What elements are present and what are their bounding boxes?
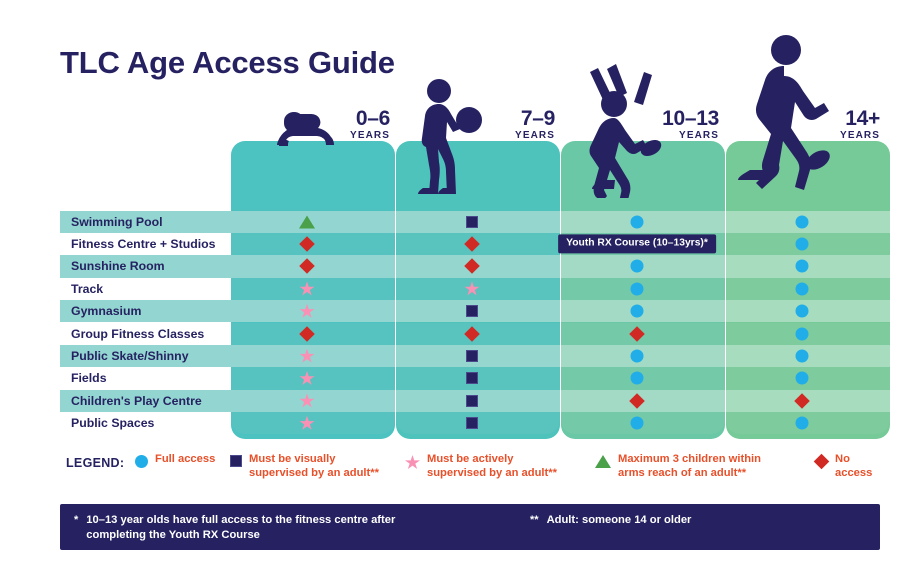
no-access-diamond-icon <box>629 326 645 342</box>
row-label: Public Spaces <box>71 416 154 430</box>
access-marker <box>300 349 315 364</box>
row-label: Public Skate/Shinny <box>71 349 189 363</box>
active-supervision-star-icon <box>300 349 315 364</box>
active-supervision-star-icon <box>405 455 420 470</box>
infographic-root: TLC Age Access Guide <box>0 0 900 579</box>
access-marker <box>299 215 315 228</box>
table-row: Fitness Centre + StudiosYouth RX Course … <box>60 233 880 255</box>
footnote-0: * 10–13 year olds have full access to th… <box>74 513 504 543</box>
access-marker <box>631 215 644 228</box>
access-cell <box>396 345 560 367</box>
youth-rx-course-badge: Youth RX Course (10–13yrs)* <box>558 234 716 253</box>
no-access-diamond-icon <box>814 454 830 470</box>
legend-marker <box>135 455 148 468</box>
footnote-marker-0: * <box>74 513 78 528</box>
visual-supervision-square-icon <box>466 395 478 407</box>
no-access-diamond-icon <box>299 236 315 252</box>
access-marker <box>631 350 644 363</box>
footnote-1: ** Adult: someone 14 or older <box>530 513 860 528</box>
visual-supervision-square-icon <box>466 372 478 384</box>
full-access-circle-icon <box>796 327 809 340</box>
visual-supervision-square-icon <box>466 305 478 317</box>
visual-supervision-square-icon <box>466 417 478 429</box>
full-access-circle-icon <box>135 455 148 468</box>
full-access-circle-icon <box>796 372 809 385</box>
active-supervision-star-icon <box>465 281 480 296</box>
access-marker <box>300 393 315 408</box>
footnote-text-0: 10–13 year olds have full access to the … <box>86 513 395 543</box>
access-marker <box>466 395 478 407</box>
table-row: Swimming Pool <box>60 211 880 233</box>
access-marker <box>632 395 643 406</box>
access-marker <box>796 327 809 340</box>
age-header-1: 7–9 YEARS <box>471 108 555 141</box>
access-cell <box>396 300 560 322</box>
access-marker <box>796 282 809 295</box>
table-row: Public Spaces <box>60 412 880 434</box>
legend-item: Must be actively supervised by an adult*… <box>405 452 557 481</box>
age-header-range-2: 10–13 <box>630 108 719 129</box>
access-cell <box>396 211 560 233</box>
table-row: Group Fitness Classes <box>60 323 880 345</box>
full-access-circle-icon <box>796 238 809 251</box>
access-marker <box>466 305 478 317</box>
age-header-unit-3: YEARS <box>800 131 880 141</box>
active-supervision-star-icon <box>300 416 315 431</box>
row-label: Sunshine Room <box>71 259 165 273</box>
access-marker <box>632 328 643 339</box>
legend-label: Must be visually supervised by an adult*… <box>249 452 379 481</box>
access-marker <box>796 350 809 363</box>
legend-label: Must be actively supervised by an adult*… <box>427 452 557 481</box>
table-row: Public Skate/Shinny <box>60 345 880 367</box>
no-access-diamond-icon <box>299 259 315 275</box>
access-marker <box>467 239 478 250</box>
no-access-diamond-icon <box>299 326 315 342</box>
row-label-cell: Fitness Centre + Studios <box>60 233 231 255</box>
legend-item: Must be visually supervised by an adult*… <box>230 452 379 481</box>
row-label-cell: Track <box>60 278 231 300</box>
full-access-circle-icon <box>631 305 644 318</box>
max-three-children-triangle-icon <box>299 215 315 228</box>
visual-supervision-square-icon <box>466 350 478 362</box>
access-marker <box>631 417 644 430</box>
row-label-cell: Fields <box>60 367 231 389</box>
full-access-circle-icon <box>631 350 644 363</box>
row-label-cell: Group Fitness Classes <box>60 323 231 345</box>
access-marker <box>796 305 809 318</box>
row-label: Fields <box>71 371 107 385</box>
footnote-marker-1: ** <box>530 513 539 528</box>
row-label: Gymnasium <box>71 304 141 318</box>
row-label-cell: Swimming Pool <box>60 211 231 233</box>
access-marker <box>467 261 478 272</box>
legend-marker <box>595 455 611 468</box>
full-access-circle-icon <box>631 372 644 385</box>
full-access-circle-icon <box>796 350 809 363</box>
legend-marker <box>405 455 420 470</box>
age-header-range-1: 7–9 <box>471 108 555 129</box>
row-label: Swimming Pool <box>71 215 163 229</box>
footnote-text-1: Adult: someone 14 or older <box>547 513 692 528</box>
legend-marker <box>230 455 242 467</box>
age-header-range-0: 0–6 <box>306 108 390 129</box>
row-label-cell: Gymnasium <box>60 300 231 322</box>
legend-item: Maximum 3 children within arms reach of … <box>595 452 761 481</box>
legend-marker <box>815 455 828 468</box>
age-header-2: 10–13 YEARS <box>630 108 719 141</box>
age-header-3: 14+ YEARS <box>800 108 880 141</box>
visual-supervision-square-icon <box>230 455 242 467</box>
table-row: Gymnasium <box>60 300 880 322</box>
row-label-cell: Children's Play Centre <box>60 390 231 412</box>
access-marker <box>796 215 809 228</box>
access-marker <box>300 281 315 296</box>
row-label: Fitness Centre + Studios <box>71 237 216 251</box>
access-marker <box>300 416 315 431</box>
full-access-circle-icon <box>796 417 809 430</box>
access-marker <box>631 372 644 385</box>
row-label-cell: Public Spaces <box>60 412 231 434</box>
no-access-diamond-icon <box>794 393 810 409</box>
access-marker <box>466 216 478 228</box>
access-marker <box>465 281 480 296</box>
access-marker <box>631 260 644 273</box>
access-marker <box>302 261 313 272</box>
access-marker <box>300 371 315 386</box>
full-access-circle-icon <box>796 305 809 318</box>
legend-label: Maximum 3 children within arms reach of … <box>618 452 761 481</box>
visual-supervision-square-icon <box>466 216 478 228</box>
access-cell <box>396 412 560 434</box>
table-row: Sunshine Room <box>60 255 880 277</box>
row-label-cell: Public Skate/Shinny <box>60 345 231 367</box>
access-marker <box>466 372 478 384</box>
access-marker <box>302 239 313 250</box>
access-marker <box>796 372 809 385</box>
access-marker <box>467 328 478 339</box>
no-access-diamond-icon <box>464 326 480 342</box>
access-cell <box>396 390 560 412</box>
no-access-diamond-icon <box>464 236 480 252</box>
full-access-circle-icon <box>631 417 644 430</box>
age-header-range-3: 14+ <box>800 108 880 129</box>
active-supervision-star-icon <box>300 281 315 296</box>
page-title: TLC Age Access Guide <box>60 45 395 81</box>
active-supervision-star-icon <box>300 304 315 319</box>
access-marker <box>796 238 809 251</box>
no-access-diamond-icon <box>629 393 645 409</box>
row-label: Children's Play Centre <box>71 394 202 408</box>
full-access-circle-icon <box>796 282 809 295</box>
row-label: Group Fitness Classes <box>71 327 204 341</box>
age-header-unit-1: YEARS <box>471 131 555 141</box>
age-header-unit-2: YEARS <box>630 131 719 141</box>
table-row: Track <box>60 278 880 300</box>
access-marker <box>796 417 809 430</box>
access-marker <box>300 304 315 319</box>
footnote-bar: * 10–13 year olds have full access to th… <box>60 504 880 550</box>
full-access-circle-icon <box>796 260 809 273</box>
table-row: Fields <box>60 367 880 389</box>
legend-item: Full access <box>135 452 215 468</box>
access-marker <box>797 395 808 406</box>
full-access-circle-icon <box>631 260 644 273</box>
table-row: Children's Play Centre <box>60 390 880 412</box>
legend: LEGEND: Full accessMust be visually supe… <box>60 452 880 494</box>
access-marker <box>796 260 809 273</box>
access-marker <box>466 417 478 429</box>
row-label-cell: Sunshine Room <box>60 255 231 277</box>
legend-label: Full access <box>155 452 215 466</box>
full-access-circle-icon <box>796 215 809 228</box>
access-marker <box>466 350 478 362</box>
full-access-circle-icon <box>631 215 644 228</box>
access-marker <box>631 282 644 295</box>
age-header-0: 0–6 YEARS <box>306 108 390 141</box>
row-label: Track <box>71 282 103 296</box>
access-marker <box>631 305 644 318</box>
max-three-children-triangle-icon <box>595 455 611 468</box>
access-marker <box>302 328 313 339</box>
legend-item: No access <box>815 452 880 481</box>
access-cell <box>396 367 560 389</box>
active-supervision-star-icon <box>300 393 315 408</box>
legend-label: No access <box>835 452 880 481</box>
full-access-circle-icon <box>631 282 644 295</box>
no-access-diamond-icon <box>464 259 480 275</box>
legend-title: LEGEND: <box>66 456 124 470</box>
age-header-unit-0: YEARS <box>306 131 390 141</box>
active-supervision-star-icon <box>300 371 315 386</box>
